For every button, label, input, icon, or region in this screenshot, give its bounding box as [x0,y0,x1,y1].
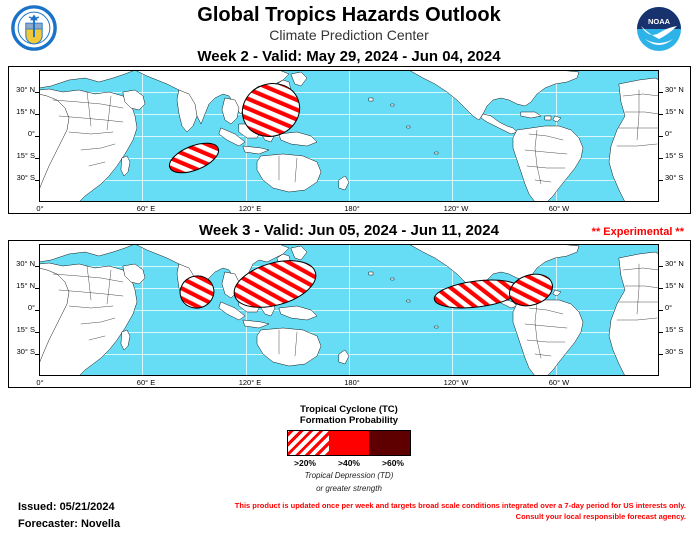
week3-lon-label-0: 0° [26,378,54,387]
legend-swatch-20 [288,431,329,455]
week2-lat-label-15n: 15° N [7,107,35,116]
week3-lat-tick-30s [35,354,40,355]
week3-lat-tick-0 [35,310,40,311]
week3-lon-label-60e: 60° E [130,378,162,387]
week3-lat-label-right-15n: 15° N [665,281,695,290]
week3-lat-label-right-30s: 30° S [665,347,695,356]
week2-lat-label-30s: 30° S [7,173,35,182]
week3-lat-tick-right-0 [658,310,663,311]
experimental-flag: ** Experimental ** [592,226,684,238]
week2-lat-tick-30n [35,92,40,93]
week3-lon-label-60w: 60° W [543,378,575,387]
week2-lat-label-right-15n: 15° N [665,107,695,116]
page-subtitle: Climate Prediction Center [0,27,698,44]
week2-lat-label-15s: 15° S [7,151,35,160]
legend-swatch-40 [329,431,370,455]
week3-lat-tick-15n [35,288,40,289]
week2-lon-label-60e: 60° E [130,204,162,213]
week3-lat-tick-right-30n [658,266,663,267]
week3-lat-tick-right-15n [658,288,663,289]
legend-note-line2: or greater strength [0,484,698,494]
week3-lat-tick-right-15s [658,332,663,333]
week3-lon-label-120e: 120° E [232,378,268,387]
page-footer: Issued: 05/21/2024 Forecaster: Novella T… [0,494,698,540]
week2-lat-tick-right-15s [658,158,663,159]
disclaimer-line2: Consult your local responsible forecast … [206,511,686,522]
legend-color-bar [287,430,411,456]
week3-map-frame [39,244,659,376]
week2-lon-label-60w: 60° W [543,204,575,213]
week2-lat-label-right-30s: 30° S [665,173,695,182]
legend-title-line2: Formation Probability [0,415,698,426]
legend-label-40: >40% [327,458,371,468]
issued-block: Issued: 05/21/2024 Forecaster: Novella [18,499,120,533]
week3-lat-label-right-0: 0° [665,303,695,312]
legend-title-line1: Tropical Cyclone (TC) [0,404,698,415]
legend-labels: >20% >40% >60% [283,458,415,468]
page-title: Global Tropics Hazards Outlook [0,0,698,27]
global-tropics-hazards-outlook-page: Global Tropics Hazards Outlook Climate P… [0,0,698,540]
week3-lon-label-180: 180° [336,378,368,387]
week3-lon-label-120w: 120° W [438,378,474,387]
week3-lat-label-15s: 15° S [7,325,35,334]
week3-lat-label-right-15s: 15° S [665,325,695,334]
legend-label-60: >60% [371,458,415,468]
week2-lat-tick-right-30s [658,180,663,181]
week3-map-area [39,244,659,376]
title-block: Global Tropics Hazards Outlook Climate P… [0,0,698,44]
noaa-emblem-icon: NOAA [634,4,684,54]
week2-lat-tick-15s [35,158,40,159]
week2-lat-tick-right-0 [658,136,663,137]
week2-lat-label-30n: 30° N [7,85,35,94]
week2-lat-tick-right-15n [658,114,663,115]
week3-lat-label-right-30n: 30° N [665,259,695,268]
week3-lat-tick-right-30s [658,354,663,355]
week2-lon-label-120e: 120° E [232,204,268,213]
week3-lat-label-0: 0° [7,303,35,312]
week2-lon-label-0: 0° [26,204,54,213]
disclaimer-line1: This product is updated once per week an… [206,500,686,511]
week2-lat-label-right-30n: 30° N [665,85,695,94]
week2-lat-tick-30s [35,180,40,181]
week2-lon-label-180: 180° [336,204,368,213]
disclaimer-block: This product is updated once per week an… [206,500,686,522]
week2-lat-tick-right-30n [658,92,663,93]
week3-lat-tick-30n [35,266,40,267]
legend-swatch-60 [369,431,410,455]
issued-date: Issued: 05/21/2024 [18,499,120,516]
legend-label-20: >20% [283,458,327,468]
week2-lat-label-0: 0° [7,129,35,138]
week2-map-frame [39,70,659,202]
week2-map-area [39,70,659,202]
week3-map-panel: 30° N 15° N 0° 15° S 30° S 30° N 15° N 0… [8,240,691,388]
week2-lat-tick-15n [35,114,40,115]
week3-lat-label-30n: 30° N [7,259,35,268]
week2-lat-label-right-15s: 15° S [665,151,695,160]
week2-map-panel: 30° N 15° N 0° 15° S 30° S 30° N 15° N 0… [8,66,691,214]
week3-lat-tick-15s [35,332,40,333]
week3-lat-label-30s: 30° S [7,347,35,356]
week2-lat-label-right-0: 0° [665,129,695,138]
forecaster-name: Forecaster: Novella [18,516,120,533]
week3-lat-label-15n: 15° N [7,281,35,290]
legend-note-line1: Tropical Depression (TD) [0,471,698,481]
noaa-logo-text: NOAA [648,17,671,26]
panel-1-title: Week 2 - Valid: May 29, 2024 - Jun 04, 2… [0,48,698,65]
week2-lon-label-120w: 120° W [438,204,474,213]
week2-lat-tick-0 [35,136,40,137]
tc-probability-legend: Tropical Cyclone (TC) Formation Probabil… [0,404,698,494]
